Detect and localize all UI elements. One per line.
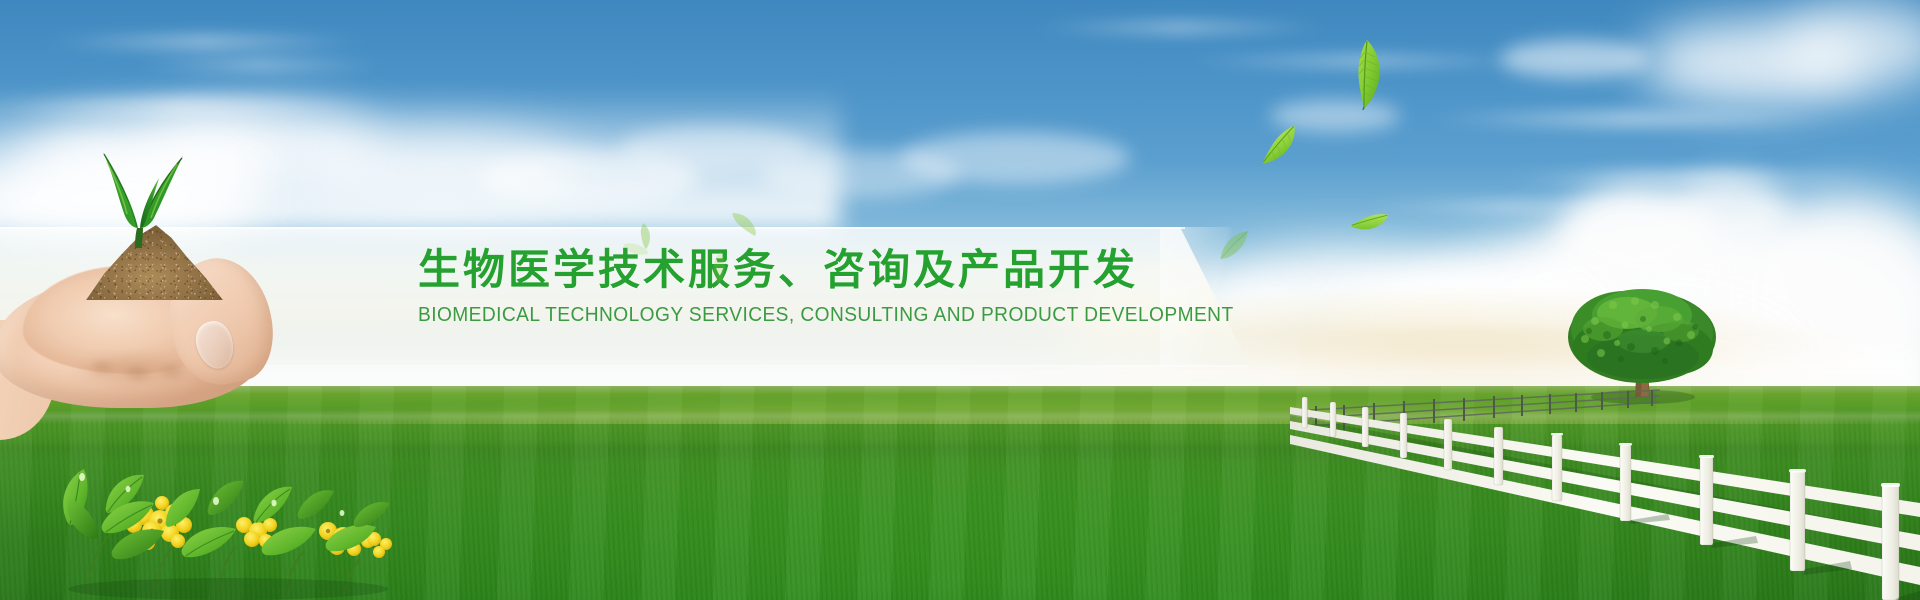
hero-banner: 生物医学技术服务、咨询及产品开发 BIOMEDICAL TECHNOLOGY S… bbox=[0, 0, 1920, 600]
cloud-puff bbox=[1670, 175, 1790, 255]
cirrus-cloud bbox=[40, 34, 370, 50]
cirrus-cloud bbox=[1030, 20, 1330, 35]
knuckle bbox=[123, 366, 153, 384]
title-block: 生物医学技术服务、咨询及产品开发 BIOMEDICAL TECHNOLOGY S… bbox=[418, 248, 1238, 327]
cirrus-cloud bbox=[130, 58, 390, 71]
cloud-puff bbox=[900, 132, 1130, 184]
knuckle bbox=[157, 364, 187, 382]
floating-leaf-icon bbox=[1345, 38, 1387, 115]
hand-with-seedling bbox=[0, 170, 295, 445]
seedling-sprout bbox=[91, 148, 261, 258]
fence-white bbox=[1290, 385, 1920, 600]
knuckle bbox=[87, 360, 117, 378]
cloud-puff bbox=[1500, 40, 1650, 78]
page-title-cn: 生物医学技术服务、咨询及产品开发 bbox=[418, 248, 1238, 292]
floating-leaf-icon bbox=[634, 221, 655, 256]
page-subtitle-en: BIOMEDICAL TECHNOLOGY SERVICES, CONSULTI… bbox=[418, 303, 1185, 327]
flowering-plants bbox=[58, 455, 398, 600]
